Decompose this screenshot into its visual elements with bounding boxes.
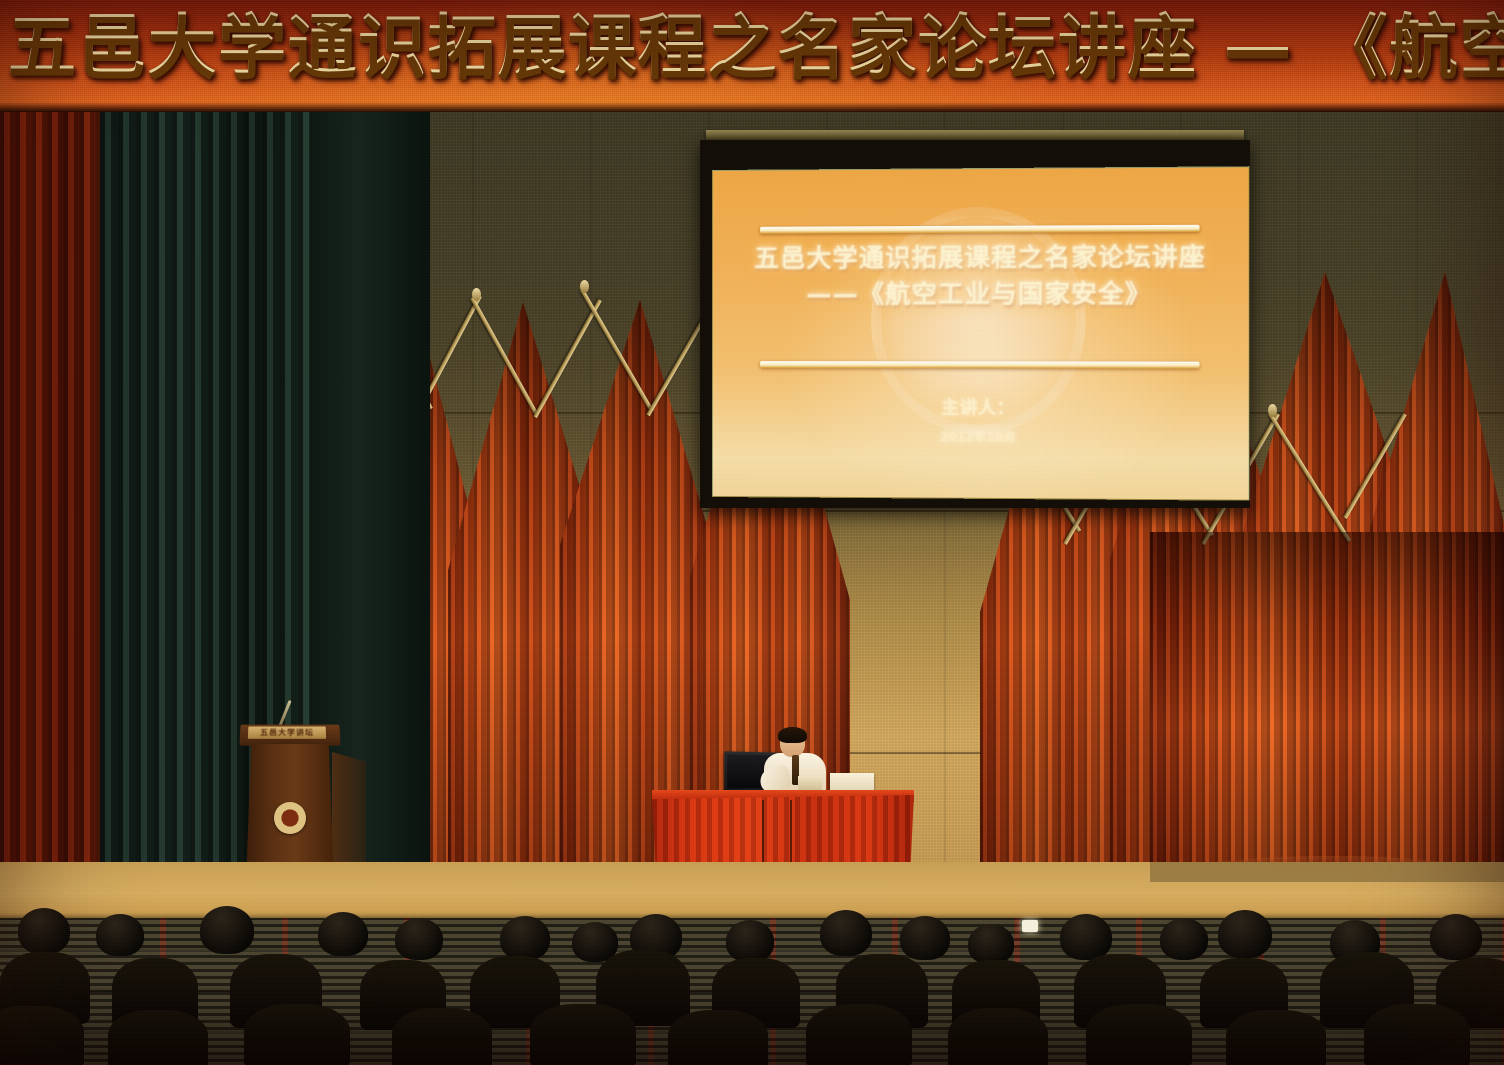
audience-head	[1060, 914, 1112, 960]
curtain-rod-knob	[1268, 404, 1277, 417]
lectern-podium: 五邑大学讲坛	[246, 724, 334, 882]
slide-rule-top	[760, 225, 1199, 234]
audience-head	[395, 918, 443, 960]
audience-head	[726, 920, 774, 962]
banner-text: 五邑大学通识拓展课程之名家论坛讲座 — 《航空工业与国家安全	[8, 6, 1504, 92]
audience-head	[1430, 914, 1482, 960]
audience-head	[900, 916, 950, 960]
curtain-swag-lower	[1150, 532, 1504, 882]
speaker-hair	[778, 727, 807, 743]
curtain-rod-knob	[580, 280, 589, 293]
curtain-rod-knob	[472, 288, 481, 301]
podium-top-surface: 五邑大学讲坛	[239, 725, 340, 746]
stage-banner: 五邑大学通识拓展课程之名家论坛讲座 — 《航空工业与国家安全	[0, 0, 1504, 112]
slide-speaker-line: 主讲人：	[713, 393, 1249, 421]
podium-side-chair	[332, 752, 366, 872]
podium-plate-text: 五邑大学讲坛	[248, 727, 326, 739]
projection-screen: 五邑大学通识拓展课程之名家论坛讲座 ——《航空工业与国家安全》 主讲人： 201…	[712, 166, 1250, 501]
audience-head	[1160, 918, 1208, 960]
auditorium-photograph: 五邑大学通识拓展课程之名家论坛讲座 — 《航空工业与国家安全	[0, 0, 1504, 1065]
audience-foreground-shadow	[0, 995, 1504, 1065]
banner-shadow	[0, 102, 1504, 112]
podium-name-plate: 五邑大学讲坛	[248, 727, 326, 739]
audience-head	[820, 910, 872, 956]
podium-emblem-icon	[274, 802, 306, 834]
slide-title: 五邑大学通识拓展课程之名家论坛讲座	[713, 239, 1249, 277]
slide-rule-bottom	[760, 361, 1199, 369]
audience-head	[318, 912, 368, 956]
audience-area	[0, 900, 1504, 1065]
audience-head	[1218, 910, 1272, 958]
audience-head	[968, 924, 1014, 964]
audience-phone-screen	[1022, 920, 1038, 932]
slide-date-line: 2012年10月	[713, 427, 1249, 447]
audience-head	[200, 906, 254, 954]
audience-head	[18, 908, 70, 954]
slide-subtitle: ——《航空工业与国家安全》	[713, 276, 1249, 313]
audience-head	[500, 916, 550, 960]
audience-head	[96, 914, 144, 956]
